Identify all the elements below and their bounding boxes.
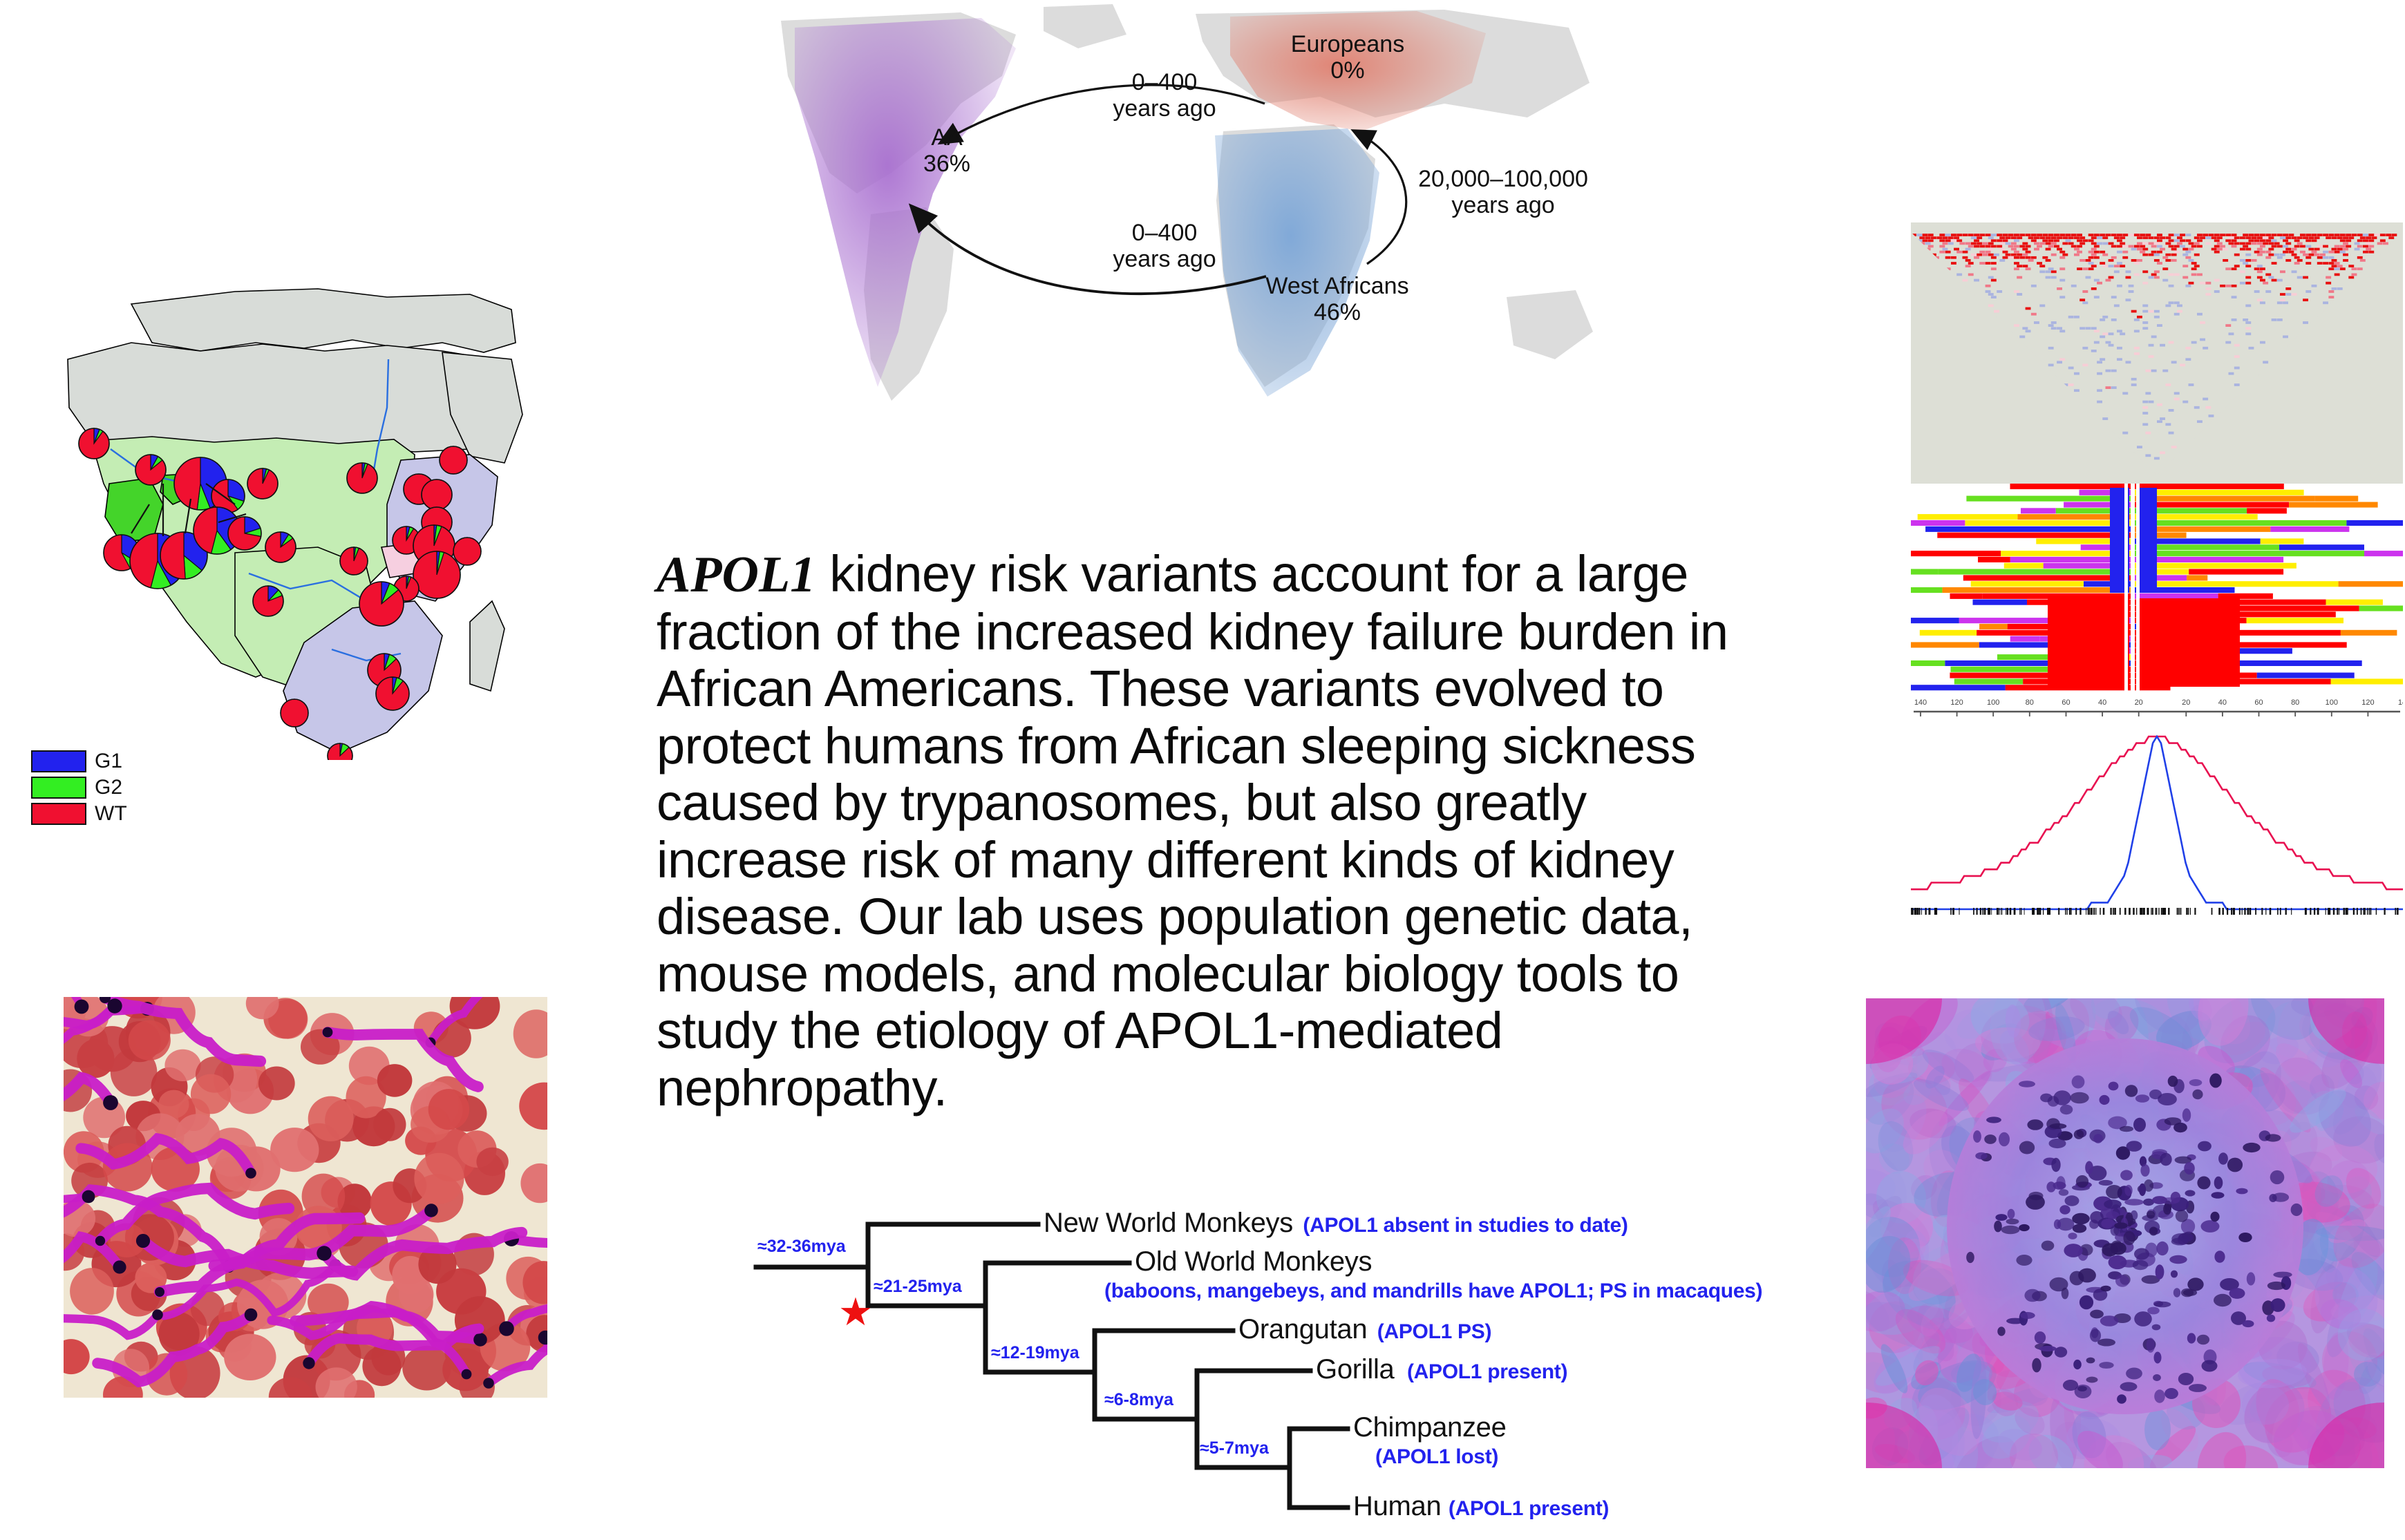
arrow-label-westafrica-to-aa-line2: years ago (1085, 246, 1244, 272)
svg-text:60: 60 (2062, 698, 2070, 707)
svg-text:20: 20 (2135, 698, 2143, 707)
svg-text:80: 80 (2026, 698, 2034, 707)
haplotype-center-gap-left (2124, 484, 2128, 691)
migration-label-europeans: Europeans 0% (1258, 31, 1437, 84)
lab-description-body: kidney risk variants account for a large… (657, 545, 1728, 1116)
tip-orangutan: Orangutan (APOL1 PS) (1238, 1314, 1491, 1345)
migration-label-west-africans-name: West Africans (1237, 273, 1437, 299)
node-label-hominid: ≈12-19mya (991, 1343, 1079, 1363)
africa-allele-frequency-map (28, 276, 525, 760)
svg-text:100: 100 (1987, 698, 1999, 707)
tip-human: Human (APOL1 present) (1353, 1491, 1609, 1522)
landmass-australia (1507, 290, 1593, 359)
legend-label-wt: WT (95, 802, 127, 826)
tip-species-orangutan: Orangutan (1238, 1314, 1367, 1344)
tip-species-chimpanzee: Chimpanzee (1353, 1412, 1507, 1443)
legend-swatch-wt (31, 803, 86, 825)
legend-swatch-g2 (31, 777, 86, 799)
tip-subannotation-old-world-monkeys: (baboons, mangebeys, and mandrills have … (1104, 1280, 1762, 1303)
tip-gorilla: Gorilla (APOL1 present) (1316, 1354, 1567, 1385)
migration-label-west-africans: West Africans 46% (1237, 273, 1437, 325)
svg-text:140: 140 (1914, 698, 1927, 707)
migration-label-europeans-value: 0% (1258, 57, 1437, 84)
migration-label-aa: AA 36% (892, 124, 1002, 177)
region-ghana-highlight (105, 478, 163, 542)
node-label-catarrhini: ≈21-25mya (874, 1277, 962, 1297)
migration-label-aa-name: AA (892, 124, 1002, 151)
tip-annotation-human: (APOL1 present) (1449, 1497, 1609, 1520)
migration-label-west-africans-value: 46% (1237, 299, 1437, 325)
tip-annotation-new-world-monkeys: (APOL1 absent in studies to date) (1303, 1214, 1628, 1237)
migration-map: AA 36% Europeans 0% West Africans 46% 0–… (753, 0, 1603, 428)
arrow-label-europe-to-aa-line2: years ago (1085, 95, 1244, 122)
svg-text:40: 40 (2098, 698, 2106, 707)
ld-triangle-plot (1911, 222, 2403, 486)
region-madagascar-grey (470, 601, 504, 691)
legend-label-g2: G2 (95, 776, 122, 799)
ehh-plot-svg (1911, 719, 2403, 919)
arrow-label-europe-to-aa: 0–400 years ago (1085, 69, 1244, 122)
axis-ticks: 1401201008060402020406080100120140 (1914, 698, 2403, 716)
legend-swatch-g1 (31, 750, 86, 772)
tip-annotation-gorilla: (APOL1 present) (1407, 1360, 1567, 1383)
legend-label-g1: G1 (95, 750, 122, 773)
svg-text:40: 40 (2218, 698, 2227, 707)
trypanosome-svg (64, 997, 547, 1398)
arrow-label-westafrica-to-aa: 0–400 years ago (1085, 220, 1244, 272)
tip-annotation-orangutan: (APOL1 PS) (1377, 1320, 1491, 1343)
legend-row-g1: G1 (31, 750, 197, 773)
svg-text:80: 80 (2291, 698, 2299, 707)
migration-label-aa-value: 36% (892, 151, 1002, 177)
haplotype-bifurcation-plot (1911, 484, 2403, 691)
phylogenetic-tree: ★ ≈32-36mya ≈21-25mya ≈12-19mya ≈6-8mya … (733, 1195, 1624, 1537)
kidney-histology-svg (1866, 998, 2384, 1468)
tip-species-human: Human (1353, 1491, 1441, 1521)
svg-text:100: 100 (2326, 698, 2338, 707)
gene-name-apol1: APOL1 (657, 546, 815, 603)
tip-old-world-monkeys: Old World Monkeys (1135, 1246, 1372, 1277)
svg-text:20: 20 (2182, 698, 2190, 707)
ehh-background (1911, 719, 2403, 919)
arrow-label-westafrica-to-europe-line1: 20,000–100,000 (1403, 166, 1603, 192)
africa-map-svg (28, 276, 525, 760)
kidney-histology-image (1866, 998, 2384, 1468)
node-label-pan-homo: ≈5-7mya (1200, 1438, 1269, 1458)
node-label-african-ape: ≈6-8mya (1104, 1390, 1173, 1410)
lab-description-text: APOL1 kidney risk variants account for a… (657, 546, 1790, 1116)
legend-row-wt: WT (31, 802, 197, 826)
node-label-root: ≈32-36mya (757, 1237, 846, 1257)
svg-text:60: 60 (2254, 698, 2263, 707)
trypanosome-micrograph (64, 997, 547, 1398)
tip-new-world-monkeys: New World Monkeys (APOL1 absent in studi… (1044, 1208, 1628, 1239)
ld-plot-svg (1911, 222, 2403, 486)
landmass-greenland (1044, 4, 1126, 48)
tip-species-gorilla: Gorilla (1316, 1354, 1395, 1385)
arrow-label-westafrica-to-europe: 20,000–100,000 years ago (1403, 166, 1603, 218)
ehh-decay-plot (1911, 719, 2403, 919)
arrow-label-westafrica-to-europe-line2: years ago (1403, 192, 1603, 218)
tip-chimpanzee: Chimpanzee (1353, 1412, 1507, 1443)
tip-subannotation-chimpanzee: (APOL1 lost) (1375, 1445, 1498, 1469)
arrow-label-europe-to-aa-line1: 0–400 (1085, 69, 1244, 95)
haplotype-center-gap-right (2136, 484, 2140, 691)
legend-row-g2: G2 (31, 776, 197, 799)
region-north-africa-grey (68, 343, 492, 452)
tip-species-new-world-monkeys: New World Monkeys (1044, 1208, 1293, 1238)
tip-species-old-world-monkeys: Old World Monkeys (1135, 1246, 1372, 1277)
arrow-label-westafrica-to-aa-line1: 0–400 (1085, 220, 1244, 246)
migration-label-europeans-name: Europeans (1258, 31, 1437, 57)
haplotype-plot-svg (1911, 484, 2403, 691)
svg-text:140: 140 (2398, 698, 2403, 707)
svg-text:120: 120 (1950, 698, 1963, 707)
positive-selection-star-icon: ★ (838, 1290, 873, 1333)
svg-text:120: 120 (2361, 698, 2374, 707)
africa-map-legend: G1 G2 WT (31, 750, 197, 833)
region-europe-grey (131, 289, 516, 352)
